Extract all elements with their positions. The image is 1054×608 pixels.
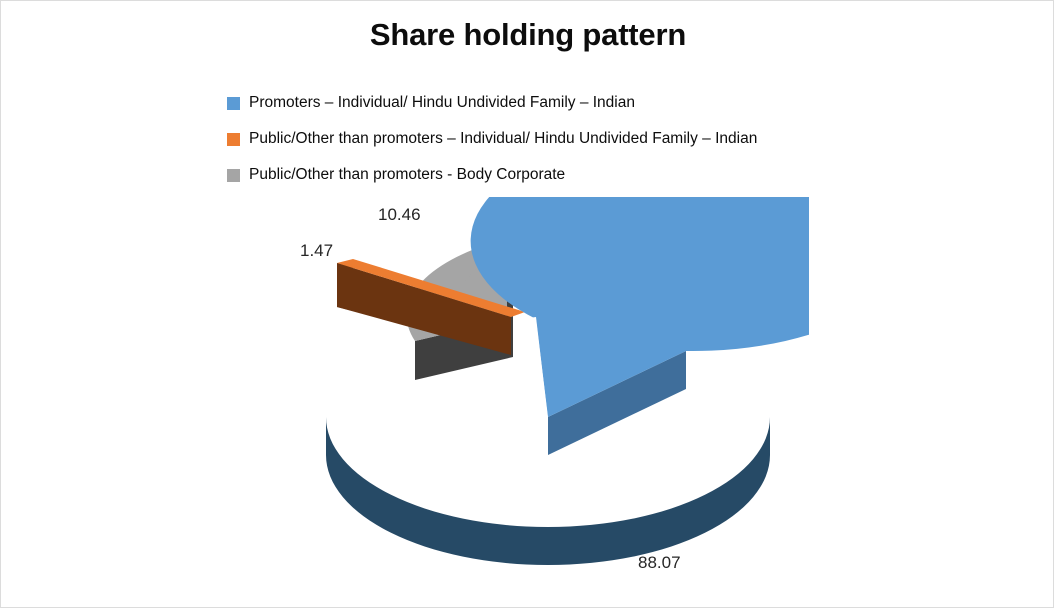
chart-title: Share holding pattern	[1, 17, 1054, 53]
data-label-promoters: 88.07	[638, 553, 681, 573]
legend-item-public-body-corporate[interactable]: Public/Other than promoters - Body Corpo…	[227, 157, 927, 193]
legend-swatch-orange-icon	[227, 133, 240, 146]
legend-item-label: Public/Other than promoters – Individual…	[249, 131, 757, 147]
data-label-public-individual: 1.47	[300, 241, 333, 261]
chart-legend: Promoters – Individual/ Hindu Undivided …	[227, 85, 927, 193]
legend-swatch-gray-icon	[227, 169, 240, 182]
legend-item-label: Promoters – Individual/ Hindu Undivided …	[249, 95, 635, 111]
pie-slice-public-individual-cap	[337, 263, 353, 311]
data-label-body-corporate: 10.46	[378, 205, 421, 225]
legend-item-promoters-individual[interactable]: Promoters – Individual/ Hindu Undivided …	[227, 85, 927, 121]
legend-swatch-blue-icon	[227, 97, 240, 110]
pie-chart-graphic: 10.46 1.47 88.07	[249, 197, 809, 597]
pie-slice-promoters[interactable]	[326, 197, 809, 565]
legend-item-public-individual[interactable]: Public/Other than promoters – Individual…	[227, 121, 927, 157]
chart-canvas: Share holding pattern Promoters – Indivi…	[0, 0, 1054, 608]
legend-item-label: Public/Other than promoters - Body Corpo…	[249, 167, 565, 183]
